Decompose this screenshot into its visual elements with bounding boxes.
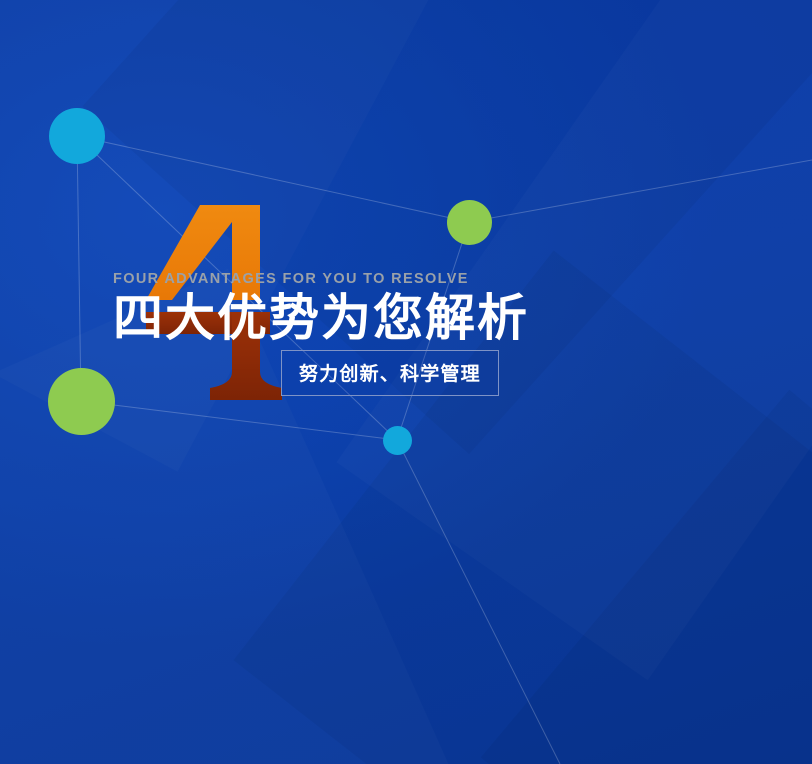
eyebrow-text: FOUR ADVANTAGES FOR YOU TO RESOLVE: [113, 270, 713, 288]
background-shape-f: [481, 390, 812, 764]
headline-block: FOUR ADVANTAGES FOR YOU TO RESOLVE 四大优势为…: [113, 270, 713, 345]
decor-circle-cyan-top-left: [49, 108, 105, 164]
decor-circle-green-bottom-left: [48, 368, 115, 435]
decor-circle-green-right: [447, 200, 492, 245]
network-line-cyan-b-edge: [397, 440, 560, 764]
promo-banner: FOUR ADVANTAGES FOR YOU TO RESOLVE 四大优势为…: [0, 0, 812, 764]
decor-circle-cyan-bottom: [383, 426, 412, 455]
tagline-badge: 努力创新、科学管理: [281, 350, 499, 396]
network-line-green-right-edge: [469, 160, 812, 222]
network-line-tl-to-green-right: [77, 136, 469, 222]
tagline-row: 努力创新、科学管理: [281, 350, 499, 396]
network-line-tl-to-green-bl: [77, 136, 81, 401]
page-title: 四大优势为您解析: [113, 291, 713, 345]
network-line-green-bl-to-cyan-b: [81, 401, 397, 440]
